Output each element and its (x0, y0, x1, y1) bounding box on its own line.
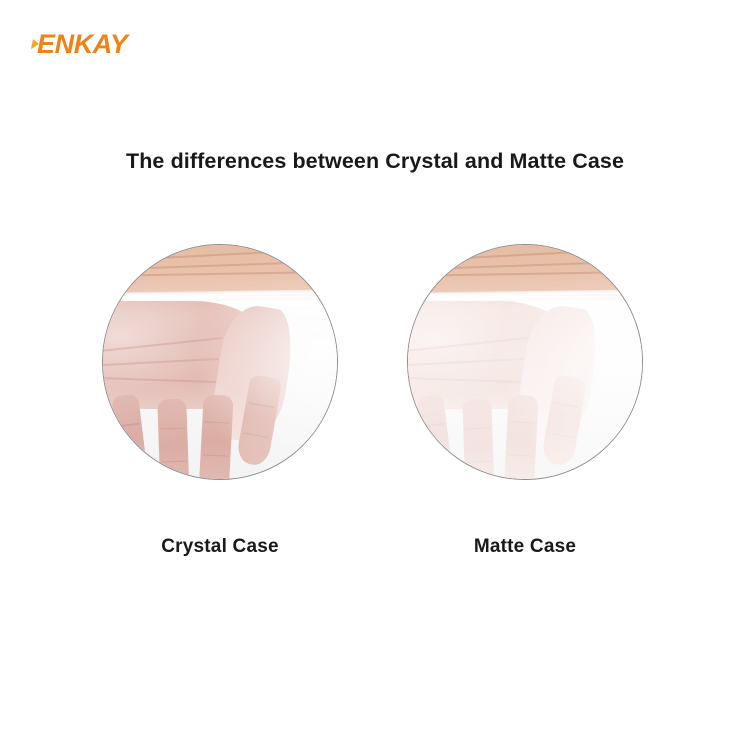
crystal-case-photo (102, 244, 338, 480)
matte-frost-overlay (408, 245, 642, 479)
matte-case-sample (407, 244, 643, 480)
matte-case-photo (407, 244, 643, 480)
crystal-case-sample (102, 244, 338, 480)
matte-case-caption: Matte Case (407, 536, 643, 558)
product-comparison-image: ENKAY The differences between Crystal an… (0, 0, 750, 750)
brand-name: ENKAY (37, 29, 128, 59)
page-title: The differences between Crystal and Matt… (0, 149, 750, 174)
crystal-scene (103, 245, 337, 479)
crystal-case-caption: Crystal Case (102, 536, 338, 558)
matte-scene (408, 245, 642, 479)
case-surface-veil (103, 245, 337, 479)
brand-logo: ENKAY (32, 29, 128, 60)
